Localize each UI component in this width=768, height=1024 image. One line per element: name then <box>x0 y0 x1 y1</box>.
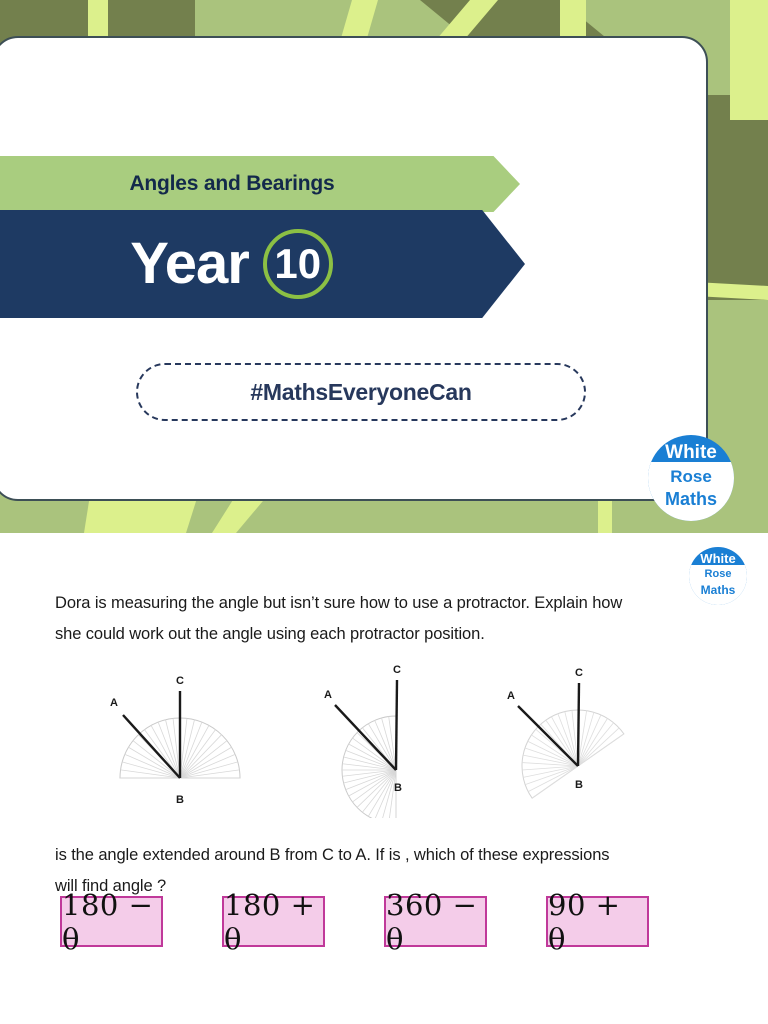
protractor-graphic-1 <box>120 691 240 778</box>
title-slide: Angles and Bearings Year 10 #MathsEveryo… <box>0 0 768 533</box>
hashtag-text: #MathsEveryoneCan <box>250 379 471 406</box>
diagram1-label-a: A <box>110 697 118 709</box>
diagram3-label-b: B <box>575 779 583 791</box>
logo-line-maths: Maths <box>689 584 747 596</box>
worksheet-content: Dora is measuring the angle but isn’t su… <box>0 533 768 1024</box>
diagram-protractor-flat-down: C A B <box>90 658 290 818</box>
expression-options: 180 − θ 180 + θ 360 − θ 90 + θ <box>0 896 768 952</box>
diagram2-label-a: A <box>324 689 332 701</box>
logo-line-rose: Rose <box>648 468 734 485</box>
topic-title: Angles and Bearings <box>0 156 474 212</box>
white-rose-maths-logo: White Rose Maths <box>648 435 734 521</box>
diagram-protractor-tilted: C A B <box>500 658 700 818</box>
protractor-graphic-2 <box>335 680 397 818</box>
logo-line-white: White <box>648 443 734 462</box>
expression-option-3[interactable]: 360 − θ <box>384 896 487 947</box>
diagram2-label-b: B <box>394 782 402 794</box>
year-label: Year <box>130 235 249 293</box>
protractor-diagrams: C A B <box>0 658 768 818</box>
question-paragraph-top: Dora is measuring the angle but isn’t su… <box>55 588 635 651</box>
diagram3-label-a: A <box>507 690 515 702</box>
expression-option-4[interactable]: 90 + θ <box>546 896 649 947</box>
logo-line-rose: Rose <box>689 569 747 580</box>
diagram2-label-c: C <box>393 664 401 676</box>
logo-line-maths: Maths <box>648 490 734 508</box>
white-rose-maths-logo-small: White Rose Maths <box>689 547 747 605</box>
diagram1-label-c: C <box>176 675 184 687</box>
hashtag-pill: #MathsEveryoneCan <box>136 363 586 421</box>
year-number-badge: 10 <box>263 229 333 299</box>
year-banner-content: Year 10 <box>0 210 473 318</box>
diagram1-label-b: B <box>176 794 184 806</box>
diagram-protractor-rotated-right: C A B <box>320 658 520 818</box>
expression-option-2[interactable]: 180 + θ <box>222 896 325 947</box>
logo-line-white: White <box>689 552 747 565</box>
expression-option-1[interactable]: 180 − θ <box>60 896 163 947</box>
protractor-graphic-3 <box>500 683 624 798</box>
diagram3-label-c: C <box>575 667 583 679</box>
